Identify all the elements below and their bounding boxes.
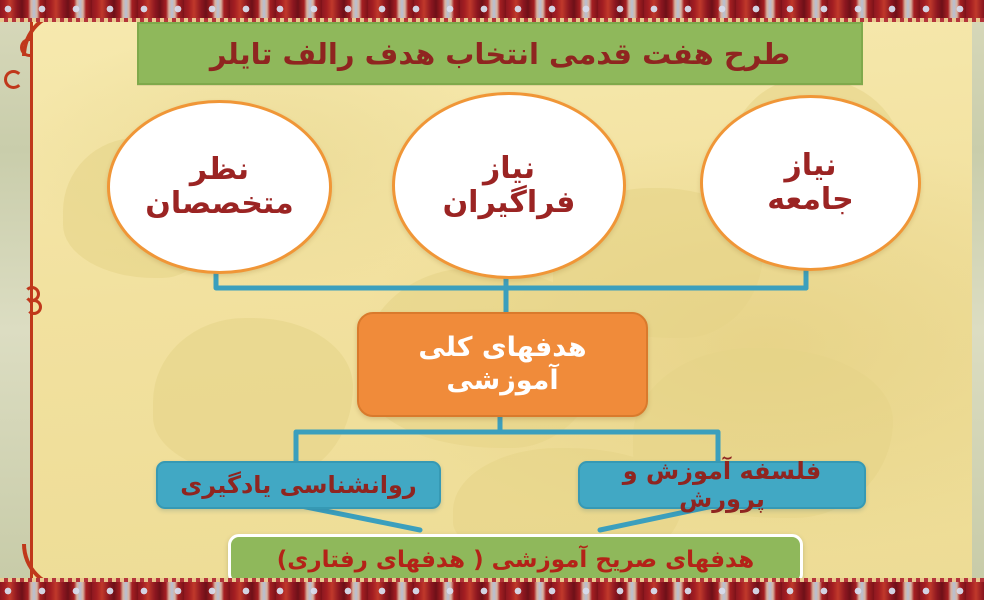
slide-title-banner: طرح هفت قدمی انتخاب هدف رالف تایلر: [137, 22, 863, 85]
source-node-society[interactable]: نیازجامعه: [700, 95, 921, 271]
ornamental-top-band: [0, 0, 984, 20]
source-label-learners: نیازفراگیران: [443, 152, 576, 219]
filter-box-education-philosophy[interactable]: فلسفه آموزش و پرورش: [578, 461, 866, 509]
left-edge-ornament: [24, 286, 40, 312]
band-medallion-pattern: [0, 0, 984, 18]
filter-label-psychology: روانشناسی یادگیری: [180, 471, 416, 499]
source-node-learners[interactable]: نیازفراگیران: [392, 92, 626, 279]
source-label-society: نیازجامعه: [767, 149, 854, 216]
source-node-experts[interactable]: نظرمتخصصان: [107, 100, 332, 274]
ornamental-bottom-band: [0, 580, 984, 600]
filter-box-learning-psychology[interactable]: روانشناسی یادگیری: [156, 461, 441, 509]
page-title: طرح هفت قدمی انتخاب هدف رالف تایلر: [210, 37, 790, 71]
general-goal-label: هدفهای کلیآموزشی: [418, 332, 586, 397]
scroll-curl-icon: [4, 70, 23, 89]
band-edge-trim: [0, 578, 984, 582]
slide-canvas: طرح هفت قدمی انتخاب هدف رالف تایلر نظرمت…: [0, 0, 984, 600]
general-goal-box[interactable]: هدفهای کلیآموزشی: [357, 312, 648, 417]
band-edge-trim: [0, 18, 984, 22]
filter-label-philosophy: فلسفه آموزش و پرورش: [580, 457, 864, 513]
outcome-label: هدفهای صریح آموزشی ( هدفهای رفتاری): [277, 547, 755, 573]
source-label-experts: نظرمتخصصان: [145, 153, 293, 220]
band-medallion-pattern: [0, 582, 984, 600]
